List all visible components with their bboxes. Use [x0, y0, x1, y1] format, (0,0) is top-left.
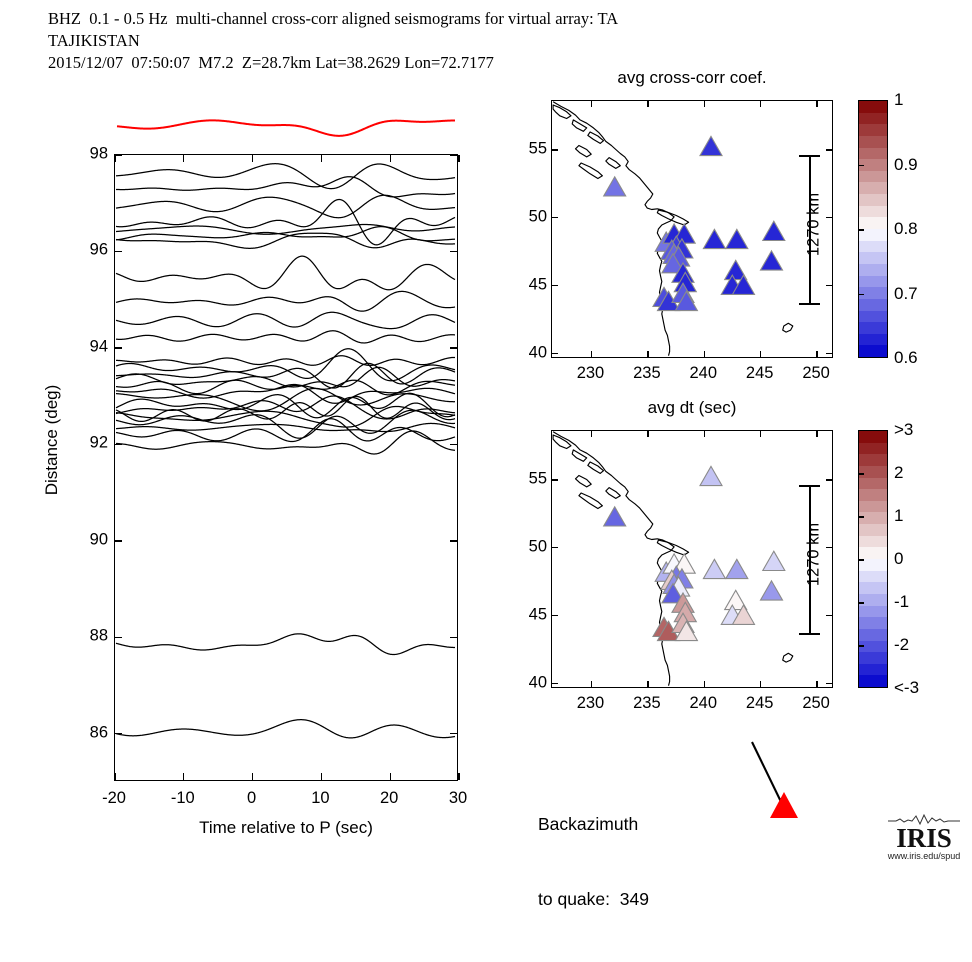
station-triangle[interactable] [700, 136, 722, 155]
seismogram-y-tick-label: 98 [90, 145, 108, 164]
map-top-svg [552, 101, 832, 357]
map-top-x-axis: 230235240245250 [551, 358, 833, 388]
colorbar-tick-mark [859, 473, 864, 475]
map-x-tick-mark [816, 681, 817, 687]
map-x-tick-label: 250 [802, 694, 830, 713]
map-x-tick-mark [647, 681, 648, 687]
coastline-path [579, 493, 603, 509]
colorbar-segment [859, 124, 887, 136]
seismogram-trace [116, 233, 455, 248]
colorbar-tick-label: 0 [894, 549, 903, 569]
stack-trace-svg [114, 92, 458, 152]
backazimuth-label-line2: to quake: 349 [538, 887, 649, 912]
map-top-scalebar: 1270 km [797, 155, 823, 305]
map-bottom-y-axis: 40455055 [505, 430, 549, 688]
colorbar-segment [859, 629, 887, 641]
colorbar-segment [859, 136, 887, 148]
seismogram-x-tick-mark [321, 155, 322, 162]
map-x-tick-mark [760, 681, 761, 687]
map-x-tick-mark [591, 681, 592, 687]
map-bottom-scalebar-label: 1270 km [805, 500, 824, 610]
seismogram-trace [116, 164, 455, 189]
seismogram-trace [116, 356, 455, 366]
seismogram-y-tick-mark [450, 347, 457, 348]
backazimuth-diagram [700, 730, 830, 840]
seismogram-y-tick-label: 92 [90, 434, 108, 453]
seismogram-trace [116, 200, 455, 245]
seismogram-x-tick-mark [183, 155, 184, 162]
coastline-path [606, 158, 621, 169]
seismogram-y-tick-mark [450, 540, 457, 541]
seismogram-x-tick-mark [458, 155, 459, 162]
seismogram-y-tick-label: 96 [90, 241, 108, 260]
colorbar-segment [859, 478, 887, 490]
colorbar-tick-mark [859, 229, 864, 231]
colorbar-segment [859, 241, 887, 253]
colorbar-segment [859, 322, 887, 334]
seismogram-x-tick-mark [321, 773, 322, 780]
scalebar-cap-bottom [799, 303, 820, 305]
station-triangle[interactable] [763, 221, 785, 240]
colorbar-segment [859, 675, 887, 687]
seismogram-y-tick-mark [115, 347, 122, 348]
colorbar-segment [859, 101, 887, 113]
iris-url: www.iris.edu/spud [880, 851, 968, 862]
coastline-path [576, 476, 592, 487]
map-y-tick-mark [552, 479, 558, 480]
coastline-path [783, 323, 793, 332]
map-x-tick-label: 245 [746, 694, 774, 713]
seismogram-y-tick-mark [115, 444, 122, 445]
seismogram-y-tick-label: 88 [90, 627, 108, 646]
colorbar-segment [859, 617, 887, 629]
colorbar-segment [859, 664, 887, 676]
header-line-1: BHZ 0.1 - 0.5 Hz multi-channel cross-cor… [48, 8, 848, 30]
colorbar-segment [859, 443, 887, 455]
colorbar-segment [859, 334, 887, 346]
colorbar-tick-label: 1 [894, 506, 903, 526]
station-triangle[interactable] [703, 229, 725, 248]
map-x-tick-mark [704, 101, 705, 107]
station-triangle[interactable] [726, 559, 748, 578]
seismogram-trace [116, 634, 455, 655]
colorbar-segment [859, 606, 887, 618]
map-y-tick-mark [826, 353, 832, 354]
colorbar-segment [859, 524, 887, 536]
map-bottom-title: avg dt (sec) [551, 398, 833, 418]
stack-trace-panel [114, 92, 458, 152]
colorbar-segment [859, 501, 887, 513]
map-x-tick-mark [816, 101, 817, 107]
map-x-tick-mark [591, 351, 592, 357]
colorbar-tick-label: 0.6 [894, 348, 918, 368]
seismogram-x-tick-mark [458, 773, 459, 780]
colorbar-segment [859, 652, 887, 664]
map-y-tick-label: 40 [529, 343, 547, 362]
colorbar-segment [859, 182, 887, 194]
seismogram-y-tick-label: 94 [90, 337, 108, 356]
seismogram-y-tick-mark [115, 733, 122, 734]
map-x-tick-mark [816, 351, 817, 357]
colorbar-segment [859, 194, 887, 206]
map-x-tick-label: 235 [633, 694, 661, 713]
map-bottom-scalebar: 1270 km [797, 485, 823, 635]
map-x-tick-mark [760, 431, 761, 437]
seismogram-x-tick-mark [252, 773, 253, 780]
map-x-tick-mark [816, 431, 817, 437]
seismogram-x-axis-title: Time relative to P (sec) [114, 818, 458, 838]
seismogram-x-tick-mark [114, 155, 115, 162]
colorbar-segment [859, 547, 887, 559]
seismogram-trace [116, 380, 455, 395]
map-y-tick-label: 55 [529, 469, 547, 488]
seismogram-traces-svg [115, 155, 456, 779]
map-bottom-x-axis: 230235240245250 [551, 688, 833, 718]
seismogram-y-tick-mark [450, 733, 457, 734]
colorbar-tick-label: -2 [894, 635, 909, 655]
coastline-path [553, 432, 674, 686]
seismogram-y-tick-label: 90 [90, 530, 108, 549]
map-y-tick-label: 40 [529, 673, 547, 692]
colorbar-segment [859, 217, 887, 229]
colorbar-tick-mark [859, 516, 864, 518]
seismogram-x-tick-label: -20 [102, 789, 126, 808]
map-y-tick-mark [826, 615, 832, 616]
colorbar-cross-corr [858, 100, 888, 358]
map-top-panel[interactable] [551, 100, 833, 358]
colorbar-segment [859, 454, 887, 466]
colorbar-segment [859, 466, 887, 478]
station-triangle[interactable] [761, 251, 783, 270]
map-y-tick-mark [552, 353, 558, 354]
coastline-path [553, 102, 674, 356]
map-y-tick-mark [826, 547, 832, 548]
colorbar-tick-label: <-3 [894, 678, 919, 698]
iris-wordmark: IRIS [880, 825, 968, 851]
colorbar-segment [859, 594, 887, 606]
map-y-tick-mark [552, 683, 558, 684]
station-triangle[interactable] [763, 551, 785, 570]
map-y-tick-mark [826, 479, 832, 480]
colorbar-segment [859, 536, 887, 548]
seismogram-trace [116, 256, 455, 290]
colorbar-segment [859, 113, 887, 125]
figure-canvas: BHZ 0.1 - 0.5 Hz multi-channel cross-cor… [0, 0, 972, 868]
scalebar-cap-top [799, 155, 820, 157]
map-x-tick-mark [647, 351, 648, 357]
colorbar-segment [859, 264, 887, 276]
map-y-tick-mark [552, 547, 558, 548]
scalebar-cap-bottom [799, 633, 820, 635]
colorbar-segment [859, 512, 887, 524]
seismogram-panel [114, 154, 458, 781]
map-x-tick-mark [591, 431, 592, 437]
seismogram-y-tick-mark [450, 251, 457, 252]
coastline-path [579, 163, 603, 179]
map-y-tick-label: 45 [529, 275, 547, 294]
map-x-tick-label: 230 [577, 694, 605, 713]
colorbar-segment [859, 582, 887, 594]
colorbar-tick-label: 0.9 [894, 155, 918, 175]
colorbar-segment [859, 299, 887, 311]
map-y-tick-mark [552, 149, 558, 150]
seismogram-y-tick-mark [115, 251, 122, 252]
map-y-tick-mark [552, 615, 558, 616]
seismogram-x-tick-mark [390, 773, 391, 780]
colorbar-segment [859, 311, 887, 323]
seismogram-trace [116, 331, 455, 343]
map-bottom-svg [552, 431, 832, 687]
map-x-tick-mark [704, 681, 705, 687]
map-y-tick-mark [552, 285, 558, 286]
map-x-tick-mark [647, 431, 648, 437]
colorbar-avg-dt [858, 430, 888, 688]
iris-logo[interactable]: IRIS www.iris.edu/spud [880, 814, 968, 864]
seismogram-x-tick-mark [390, 155, 391, 162]
seismogram-trace [116, 195, 455, 217]
map-y-tick-label: 50 [529, 207, 547, 226]
colorbar-tick-label: 0.7 [894, 284, 918, 304]
seismogram-trace [116, 720, 455, 738]
map-bottom-panel[interactable] [551, 430, 833, 688]
coastline-path [606, 488, 621, 499]
colorbar-segment [859, 276, 887, 288]
map-x-tick-mark [647, 101, 648, 107]
colorbar-segment [859, 559, 887, 571]
map-x-tick-label: 240 [690, 694, 718, 713]
colorbar-tick-label: 1 [894, 90, 903, 110]
seismogram-trace [116, 419, 455, 442]
station-triangle[interactable] [761, 581, 783, 600]
seismogram-y-tick-mark [450, 637, 457, 638]
station-triangle[interactable] [604, 177, 626, 196]
seismogram-trace [116, 291, 455, 311]
seismogram-trace [116, 349, 455, 381]
colorbar-tick-label: 2 [894, 463, 903, 483]
map-x-tick-label: 245 [746, 364, 774, 383]
seismogram-x-tick-label: 10 [311, 789, 329, 808]
colorbar-segment [859, 148, 887, 160]
map-x-tick-mark [591, 101, 592, 107]
map-y-tick-mark [826, 149, 832, 150]
colorbar-tick-mark [859, 645, 864, 647]
colorbar-segment [859, 171, 887, 183]
seismogram-trace [116, 312, 455, 328]
seismogram-y-tick-mark [115, 154, 122, 155]
colorbar-tick-mark [859, 602, 864, 604]
backazimuth-ray-line [752, 742, 784, 808]
seismogram-trace [116, 227, 455, 241]
seismogram-y-tick-mark [450, 444, 457, 445]
map-x-tick-mark [704, 431, 705, 437]
map-y-tick-label: 45 [529, 605, 547, 624]
scalebar-cap-top [799, 485, 820, 487]
seismogram-x-tick-label: 30 [449, 789, 467, 808]
seismogram-trace [116, 177, 455, 197]
map-top-title: avg cross-corr coef. [551, 68, 833, 88]
backazimuth-label: Backazimuth to quake: 349 [538, 762, 649, 962]
backazimuth-label-line1: Backazimuth [538, 812, 649, 837]
seismogram-x-axis: -20-100102030 [114, 781, 458, 821]
map-y-tick-mark [826, 285, 832, 286]
station-triangle[interactable] [703, 559, 725, 578]
map-x-tick-label: 230 [577, 364, 605, 383]
seismogram-x-tick-mark [252, 155, 253, 162]
colorbar-tick-mark [859, 294, 864, 296]
station-triangle[interactable] [604, 507, 626, 526]
colorbar-tick-label: 0.8 [894, 219, 918, 239]
map-y-tick-mark [552, 217, 558, 218]
map-top-y-axis: 40455055 [505, 100, 549, 358]
colorbar-tick-label: -1 [894, 592, 909, 612]
coastline-path [588, 462, 604, 473]
map-x-tick-label: 250 [802, 364, 830, 383]
figure-header: BHZ 0.1 - 0.5 Hz multi-channel cross-cor… [48, 8, 848, 74]
seismogram-y-tick-mark [115, 540, 122, 541]
map-y-tick-mark [826, 217, 832, 218]
colorbar-tick-mark [859, 165, 864, 167]
colorbar-tick-label: >3 [894, 420, 913, 440]
colorbar-segment [859, 431, 887, 443]
map-y-tick-label: 50 [529, 537, 547, 556]
seismogram-y-tick-label: 86 [90, 723, 108, 742]
seismogram-trace [116, 225, 455, 235]
colorbar-segment [859, 229, 887, 241]
station-triangle[interactable] [726, 229, 748, 248]
seismogram-y-axis-title: Distance (deg) [42, 340, 62, 540]
header-line-2: TAJIKISTAN [48, 30, 848, 52]
map-x-tick-label: 240 [690, 364, 718, 383]
map-y-tick-mark [826, 683, 832, 684]
station-triangle[interactable] [700, 466, 722, 485]
coastline-path [576, 146, 592, 157]
seismogram-x-tick-label: 0 [247, 789, 256, 808]
seismogram-trace [116, 431, 455, 454]
seismogram-y-tick-mark [115, 637, 122, 638]
map-x-tick-mark [704, 351, 705, 357]
map-x-tick-label: 235 [633, 364, 661, 383]
colorbar-segment [859, 345, 887, 357]
map-x-tick-mark [760, 101, 761, 107]
seismogram-x-tick-label: 20 [380, 789, 398, 808]
colorbar-segment [859, 252, 887, 264]
colorbar-segment [859, 489, 887, 501]
map-y-tick-label: 55 [529, 139, 547, 158]
seismogram-x-tick-label: -10 [171, 789, 195, 808]
colorbar-segment [859, 206, 887, 218]
map-x-tick-mark [760, 351, 761, 357]
seismogram-y-axis: 86889092949698 [60, 154, 108, 781]
colorbar-segment [859, 571, 887, 583]
stack-trace-line [117, 120, 455, 135]
seismogram-x-tick-mark [114, 773, 115, 780]
seismogram-y-tick-mark [450, 154, 457, 155]
backazimuth-station-triangle [770, 792, 798, 818]
colorbar-tick-mark [859, 559, 864, 561]
map-top-scalebar-label: 1270 km [805, 170, 824, 280]
seismogram-x-tick-mark [183, 773, 184, 780]
coastline-path [588, 132, 604, 143]
coastline-path [783, 653, 793, 662]
